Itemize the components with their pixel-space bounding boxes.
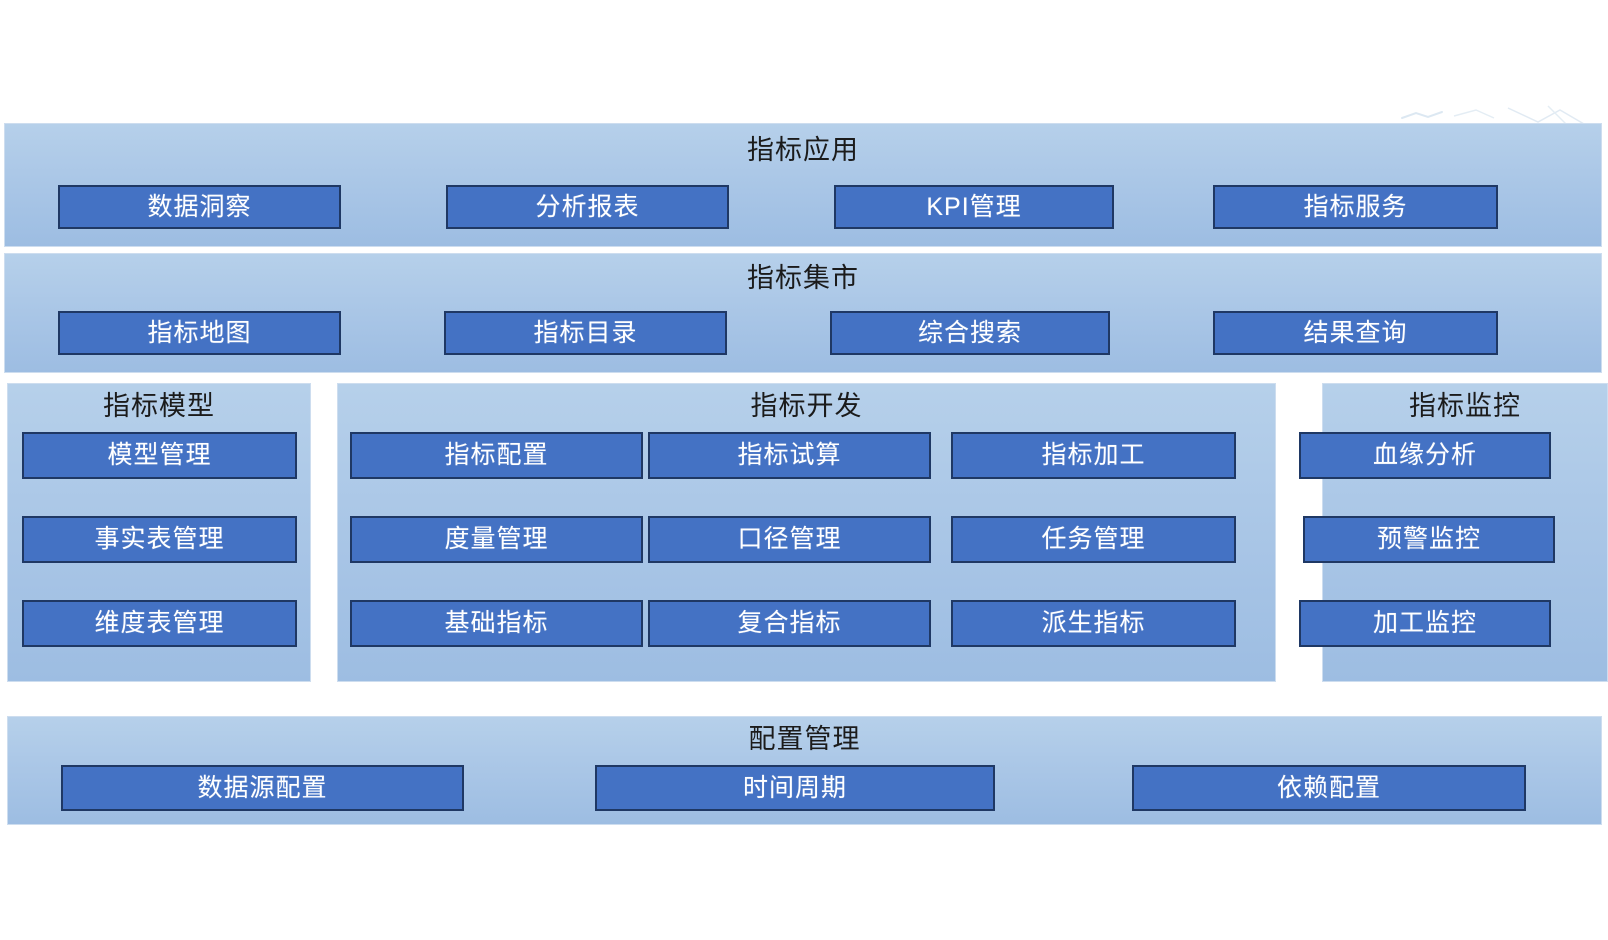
layer-indicator-application: 指标应用 数据洞察 分析报表 KPI管理 指标服务 [4, 123, 1602, 247]
layer-indicator-marketplace: 指标集市 指标地图 指标目录 综合搜索 结果查询 [4, 253, 1602, 373]
button-lineage-analysis[interactable]: 血缘分析 [1299, 432, 1551, 479]
button-processing-monitoring[interactable]: 加工监控 [1299, 600, 1551, 647]
button-analysis-report[interactable]: 分析报表 [446, 185, 729, 229]
button-indicator-catalog[interactable]: 指标目录 [444, 311, 727, 355]
panel-title-indicator-model: 指标模型 [8, 390, 310, 422]
button-composite-indicator[interactable]: 复合指标 [648, 600, 931, 647]
architecture-diagram: 指标应用 数据洞察 分析报表 KPI管理 指标服务 指标集市 指标地图 指标目录… [0, 0, 1608, 940]
button-result-query[interactable]: 结果查询 [1213, 311, 1498, 355]
button-alert-monitoring[interactable]: 预警监控 [1303, 516, 1555, 563]
layer-title-configuration-management: 配置管理 [8, 723, 1601, 755]
button-kpi-management[interactable]: KPI管理 [834, 185, 1114, 229]
button-dimension-table-management[interactable]: 维度表管理 [22, 600, 297, 647]
button-fact-table-management[interactable]: 事实表管理 [22, 516, 297, 563]
panel-indicator-development: 指标开发 指标配置 指标试算 指标加工 度量管理 口径管理 任务管理 基础指标 … [337, 383, 1276, 682]
button-measure-management[interactable]: 度量管理 [350, 516, 643, 563]
button-comprehensive-search[interactable]: 综合搜索 [830, 311, 1110, 355]
button-model-management[interactable]: 模型管理 [22, 432, 297, 479]
button-indicator-trial-calculation[interactable]: 指标试算 [648, 432, 931, 479]
button-basic-indicator[interactable]: 基础指标 [350, 600, 643, 647]
button-indicator-processing[interactable]: 指标加工 [951, 432, 1236, 479]
button-caliber-management[interactable]: 口径管理 [648, 516, 931, 563]
button-derived-indicator[interactable]: 派生指标 [951, 600, 1236, 647]
panel-indicator-monitoring: 指标监控 血缘分析 预警监控 加工监控 [1322, 383, 1608, 682]
layer-configuration-management: 配置管理 数据源配置 时间周期 依赖配置 [7, 716, 1602, 825]
button-datasource-configuration[interactable]: 数据源配置 [61, 765, 464, 811]
layer-title-indicator-application: 指标应用 [5, 134, 1601, 166]
button-dependency-configuration[interactable]: 依赖配置 [1132, 765, 1526, 811]
button-indicator-map[interactable]: 指标地图 [58, 311, 341, 355]
panel-title-indicator-monitoring: 指标监控 [1323, 390, 1607, 422]
button-data-insight[interactable]: 数据洞察 [58, 185, 341, 229]
panel-indicator-model: 指标模型 模型管理 事实表管理 维度表管理 [7, 383, 311, 682]
button-indicator-configuration[interactable]: 指标配置 [350, 432, 643, 479]
layer-title-indicator-marketplace: 指标集市 [5, 262, 1601, 294]
button-indicator-service[interactable]: 指标服务 [1213, 185, 1498, 229]
panel-title-indicator-development: 指标开发 [338, 390, 1275, 422]
button-task-management[interactable]: 任务管理 [951, 516, 1236, 563]
button-time-period[interactable]: 时间周期 [595, 765, 995, 811]
